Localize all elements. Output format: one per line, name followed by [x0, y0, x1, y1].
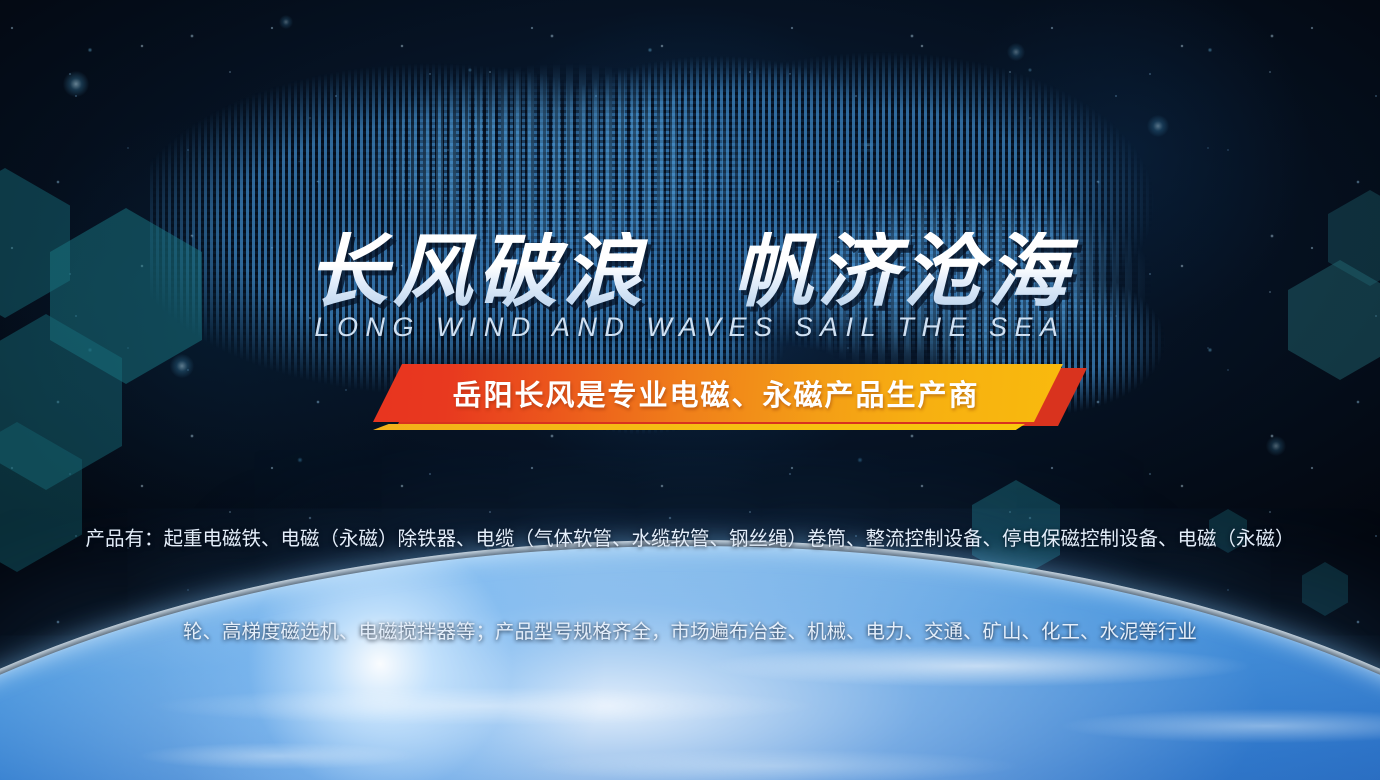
headline-title: 长风破浪 帆济沧海: [0, 232, 1380, 312]
description-line-2: 轮、高梯度磁选机、电磁搅拌器等；产品型号规格齐全，市场遍布冶金、机械、电力、交通…: [0, 617, 1380, 648]
banner-content: 长风破浪 帆济沧海 LONG WIND AND WAVES SAIL THE S…: [0, 0, 1380, 780]
product-description: 产品有：起重电磁铁、电磁（永磁）除铁器、电缆（气体软管、水缆软管、钢丝绳）卷筒、…: [0, 462, 1380, 710]
ribbon-shape: 岳阳长风是专业电磁、永磁产品生产商: [373, 364, 1063, 422]
tagline-ribbon: 岳阳长风是专业电磁、永磁产品生产商: [355, 362, 1095, 438]
hero-banner: 长风破浪 帆济沧海 LONG WIND AND WAVES SAIL THE S…: [0, 0, 1380, 780]
ribbon-label: 岳阳长风是专业电磁、永磁产品生产商: [452, 372, 979, 414]
headline-subtitle-english: LONG WIND AND WAVES SAIL THE SEA: [0, 312, 1380, 343]
description-line-1: 产品有：起重电磁铁、电磁（永磁）除铁器、电缆（气体软管、水缆软管、钢丝绳）卷筒、…: [0, 524, 1380, 555]
ribbon-gold-strip: [373, 424, 1025, 430]
